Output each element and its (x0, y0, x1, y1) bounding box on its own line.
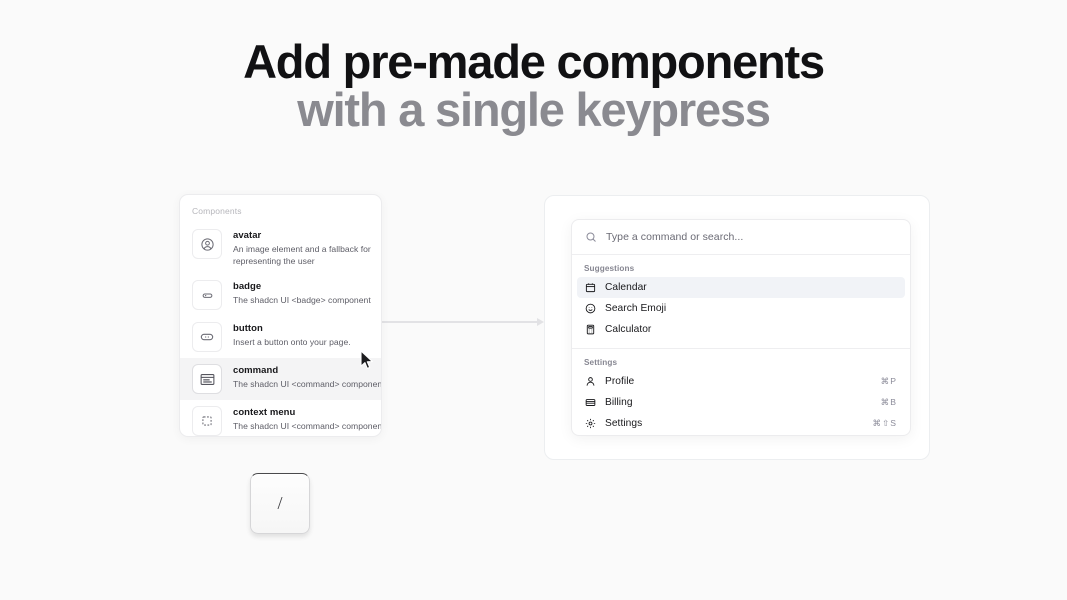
command-item-shortcut: ⌘B (881, 397, 897, 408)
calendar-icon (585, 282, 596, 293)
command-item-calculator[interactable]: Calculator (577, 319, 905, 340)
credit-card-icon (585, 397, 596, 408)
command-palette-card: Type a command or search... Suggestions … (544, 195, 930, 460)
component-item-name: command (233, 365, 371, 378)
component-item-name: badge (233, 281, 371, 294)
connector-arrow (380, 318, 544, 327)
gear-icon (585, 418, 596, 429)
command-item-shortcut: ⌘P (881, 376, 897, 387)
command-item-shortcut: ⌘⇧S (872, 418, 897, 429)
connector-arrowhead (537, 318, 544, 326)
command-item-billing[interactable]: Billing ⌘B (577, 392, 905, 413)
component-list-item-badge[interactable]: badge The shadcn UI <badge> component (180, 274, 381, 316)
button-icon (192, 322, 222, 352)
command-item-label: Calendar (605, 282, 897, 293)
search-input[interactable]: Type a command or search... (572, 220, 910, 255)
command-item-label: Billing (605, 397, 872, 408)
command-group-label-settings: Settings (572, 349, 910, 371)
components-panel: Components avatar An image element and a… (179, 194, 382, 437)
command-icon (192, 364, 222, 394)
mouse-cursor (360, 350, 375, 372)
component-item-description: An image element and a fallback for repr… (233, 244, 371, 268)
component-item-description: The shadcn UI <command> component (233, 421, 371, 433)
headline-line-2: with a single keypress (0, 86, 1067, 134)
avatar-icon (192, 229, 222, 259)
component-item-name: avatar (233, 230, 371, 243)
component-item-text: command The shadcn UI <command> componen… (233, 364, 371, 391)
component-item-name: button (233, 323, 351, 336)
component-item-description: The shadcn UI <command> component (233, 379, 371, 391)
component-item-description: The shadcn UI <badge> component (233, 295, 371, 307)
search-placeholder-text: Type a command or search... (606, 231, 743, 243)
connector-line (380, 321, 537, 323)
smile-icon (585, 303, 596, 314)
command-item-label: Calculator (605, 324, 897, 335)
component-item-text: badge The shadcn UI <badge> component (233, 280, 371, 307)
page-root: Add pre-made components with a single ke… (0, 0, 1067, 600)
command-item-search-emoji[interactable]: Search Emoji (577, 298, 905, 319)
page-title: Add pre-made components with a single ke… (0, 38, 1067, 134)
context-menu-icon (192, 406, 222, 436)
user-icon (585, 376, 596, 387)
command-item-calendar[interactable]: Calendar (577, 277, 905, 298)
command-item-label: Search Emoji (605, 303, 897, 314)
component-list-item-command[interactable]: command The shadcn UI <command> componen… (180, 358, 381, 400)
command-item-settings[interactable]: Settings ⌘⇧S (577, 413, 905, 434)
command-item-label: Profile (605, 376, 872, 387)
component-list-item-button[interactable]: button Insert a button onto your page. (180, 316, 381, 358)
calculator-icon (585, 324, 596, 335)
component-item-text: context menu The shadcn UI <command> com… (233, 406, 371, 433)
component-list-item-avatar[interactable]: avatar An image element and a fallback f… (180, 223, 381, 274)
component-item-text: avatar An image element and a fallback f… (233, 229, 371, 268)
headline-line-1: Add pre-made components (0, 38, 1067, 86)
slash-keycap[interactable]: / (250, 473, 310, 534)
command-group-label-suggestions: Suggestions (572, 255, 910, 277)
component-item-description: Insert a button onto your page. (233, 337, 351, 349)
command-item-profile[interactable]: Profile ⌘P (577, 371, 905, 392)
component-item-name: context menu (233, 407, 371, 420)
command-item-label: Settings (605, 418, 863, 429)
components-panel-title: Components (180, 205, 381, 223)
keycap-label: / (277, 493, 282, 514)
badge-icon (192, 280, 222, 310)
component-list-item-context-menu[interactable]: context menu The shadcn UI <command> com… (180, 400, 381, 437)
component-item-text: button Insert a button onto your page. (233, 322, 351, 349)
search-icon (585, 231, 597, 243)
command-dialog: Type a command or search... Suggestions … (571, 219, 911, 436)
